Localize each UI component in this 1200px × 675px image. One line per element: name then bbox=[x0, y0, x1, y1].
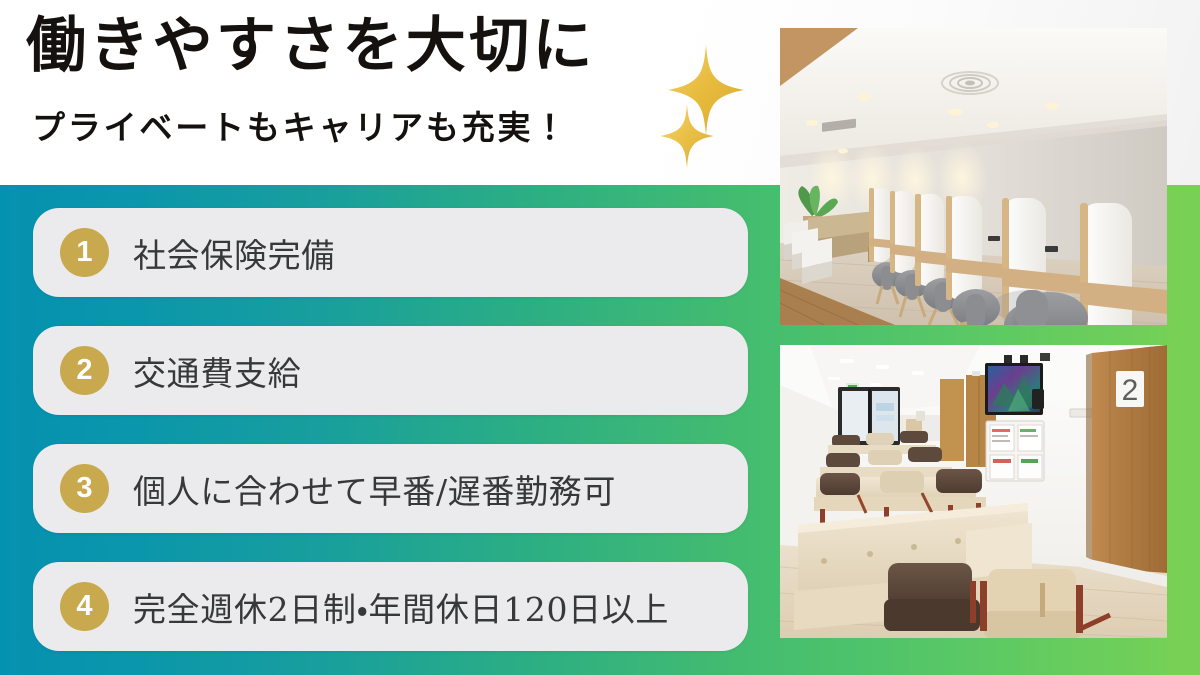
feature-number-badge: 1 bbox=[60, 228, 109, 277]
sparkle-icon bbox=[660, 104, 714, 168]
feature-card-1[interactable]: 1 社会保険完備 bbox=[33, 208, 748, 297]
feature-label: 完全週休2日制・年間休日120日以上 bbox=[133, 583, 669, 631]
feature-label: 社会保険完備 bbox=[133, 229, 335, 277]
feature-label: 個人に合わせて早番/遅番勤務可 bbox=[133, 465, 616, 513]
feature-label: 交通費支給 bbox=[133, 347, 301, 395]
feature-card-2[interactable]: 2 交通費支給 bbox=[33, 326, 748, 415]
page-title: 働きやすさを大切に bbox=[26, 14, 596, 79]
recruitment-banner-slide: 働きやすさを大切に プライベートもキャリアも充実！ bbox=[0, 0, 1200, 675]
salon-booth-interior-photo bbox=[780, 28, 1167, 325]
feature-number-badge: 2 bbox=[60, 346, 109, 395]
page-subtitle: プライベートもキャリアも充実！ bbox=[32, 108, 569, 148]
feature-number-badge: 4 bbox=[60, 582, 109, 631]
green-accent-column bbox=[1167, 185, 1200, 675]
clinic-waiting-room-photo: 2 bbox=[780, 345, 1167, 638]
feature-card-4[interactable]: 4 完全週休2日制・年間休日120日以上 bbox=[33, 562, 748, 651]
feature-card-3[interactable]: 3 個人に合わせて早番/遅番勤務可 bbox=[33, 444, 748, 533]
feature-list: 1 社会保険完備 2 交通費支給 3 個人に合わせて早番/遅番勤務可 4 完全週… bbox=[33, 208, 748, 658]
feature-number-badge: 3 bbox=[60, 464, 109, 513]
svg-text:2: 2 bbox=[1122, 374, 1139, 407]
